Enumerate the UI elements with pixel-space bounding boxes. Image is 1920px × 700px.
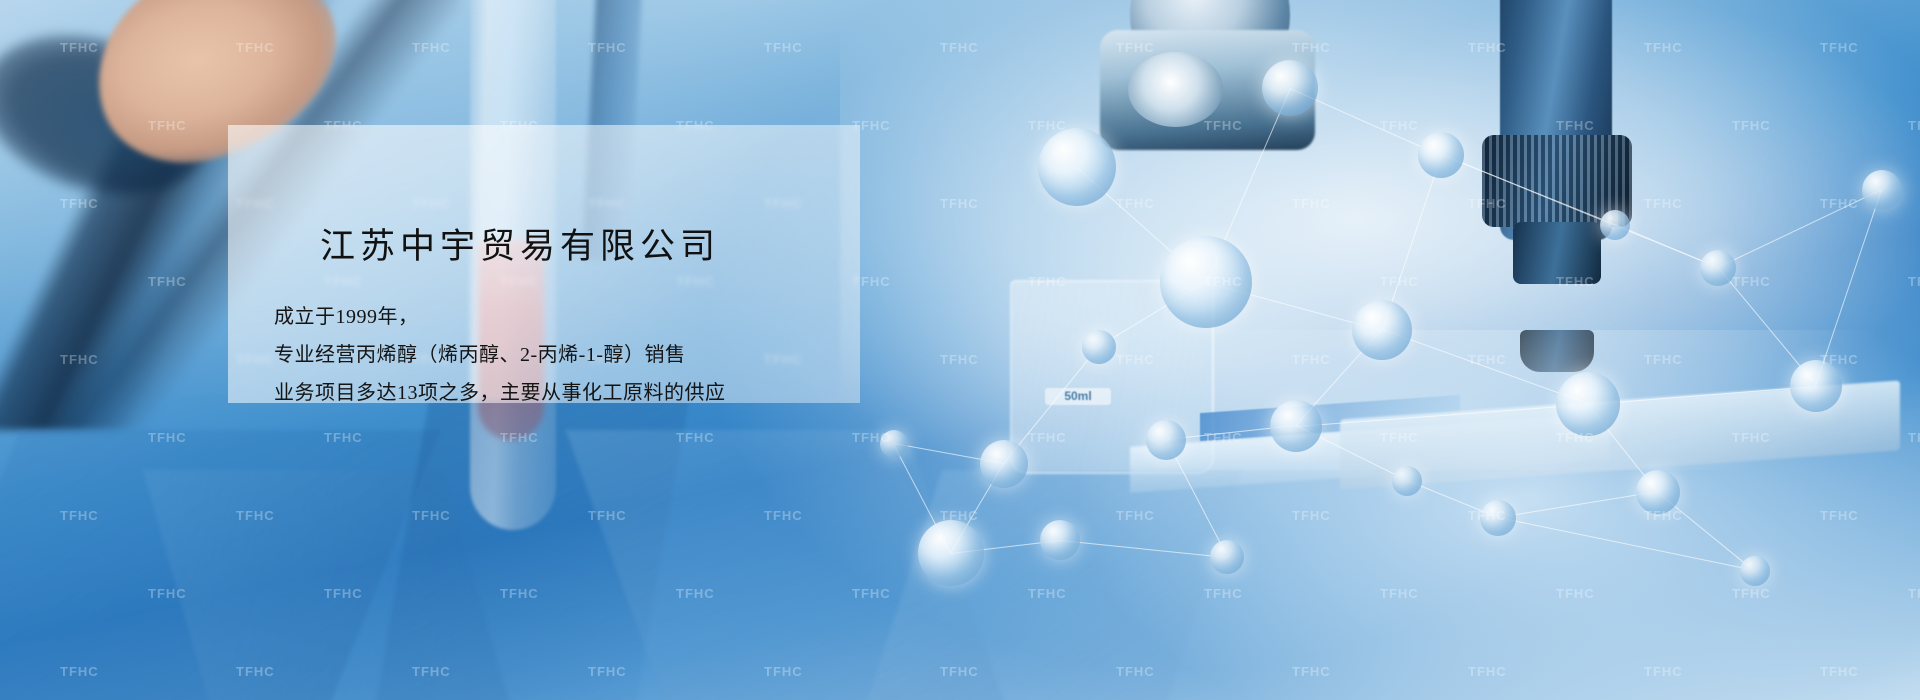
- molecule-node: [1262, 60, 1318, 116]
- watermark-text: TFHC: [1820, 508, 1859, 523]
- watermark-text: TFHC: [588, 664, 627, 679]
- watermark-text: TFHC: [1468, 196, 1507, 211]
- watermark-text: TFHC: [1644, 664, 1683, 679]
- watermark-text: TFHC: [1644, 508, 1683, 523]
- watermark-text: TFHC: [940, 664, 979, 679]
- watermark-text: TFHC: [148, 586, 187, 601]
- watermark-text: TFHC: [1820, 352, 1859, 367]
- watermark-text: TFHC: [1204, 274, 1243, 289]
- molecule-node: [1862, 170, 1902, 210]
- watermark-text: TFHC: [1732, 118, 1771, 133]
- molecule-bond: [1498, 517, 1755, 571]
- watermark-text: TFHC: [324, 586, 363, 601]
- watermark-text: TFHC: [1732, 274, 1771, 289]
- watermark-text: TFHC: [1468, 664, 1507, 679]
- watermark-text: TFHC: [1116, 196, 1155, 211]
- molecule-bond: [1296, 404, 1588, 427]
- molecule-node: [1790, 360, 1842, 412]
- molecule-node: [1270, 400, 1322, 452]
- watermark-text: TFHC: [852, 430, 891, 445]
- watermark-text: TFHC: [940, 508, 979, 523]
- company-name-title: 江苏中宇贸易有限公司: [320, 218, 720, 269]
- molecule-node: [980, 440, 1028, 488]
- watermark-text: TFHC: [1204, 586, 1243, 601]
- watermark-text: TFHC: [148, 430, 187, 445]
- company-intro-line-1: 成立于1999年，: [274, 298, 726, 336]
- molecule-node: [1556, 372, 1620, 436]
- watermark-text: TFHC: [940, 196, 979, 211]
- watermark-text: TFHC: [1468, 508, 1507, 523]
- molecule-node: [1418, 132, 1464, 178]
- watermark-text: TFHC: [60, 664, 99, 679]
- watermark-text: TFHC: [1644, 40, 1683, 55]
- company-intro-line-3: 业务项目多达13项之多，主要从事化工原料的供应: [274, 374, 726, 412]
- watermark-text: TFHC: [1028, 430, 1067, 445]
- watermark-text: TFHC: [940, 352, 979, 367]
- watermark-text: TFHC: [1380, 586, 1419, 601]
- molecule-node: [1082, 330, 1116, 364]
- company-intro-text: 成立于1999年，专业经营丙烯醇（烯丙醇、2-丙烯-1-醇）销售业务项目多达13…: [274, 298, 726, 412]
- watermark-text: TFHC: [1116, 352, 1155, 367]
- watermark-text: TFHC: [324, 430, 363, 445]
- molecule-node: [1146, 420, 1186, 460]
- watermark-text: TFHC: [412, 664, 451, 679]
- watermark-text: TFHC: [1556, 118, 1595, 133]
- watermark-text: TFHC: [1292, 352, 1331, 367]
- watermark-text: TFHC: [148, 118, 187, 133]
- watermark-text: TFHC: [1380, 430, 1419, 445]
- molecule-bond: [1060, 540, 1227, 558]
- watermark-text: TFHC: [412, 508, 451, 523]
- watermark-text: TFHC: [1820, 664, 1859, 679]
- molecule-node: [1392, 466, 1422, 496]
- company-intro-line-2: 专业经营丙烯醇（烯丙醇、2-丙烯-1-醇）销售: [274, 336, 726, 374]
- company-intro-panel: 江苏中宇贸易有限公司 成立于1999年，专业经营丙烯醇（烯丙醇、2-丙烯-1-醇…: [228, 125, 860, 403]
- molecule-node: [1038, 128, 1116, 206]
- watermark-text: TFHC: [1556, 586, 1595, 601]
- watermark-text: TFHC: [1732, 586, 1771, 601]
- watermark-text: TFHC: [1908, 430, 1920, 445]
- molecule-node: [918, 520, 984, 586]
- watermark-text: TFHC: [500, 586, 539, 601]
- watermark-text: TFHC: [764, 40, 803, 55]
- watermark-text: TFHC: [1204, 430, 1243, 445]
- watermark-text: TFHC: [1116, 508, 1155, 523]
- molecule-bond: [1498, 491, 1658, 518]
- watermark-text: TFHC: [60, 352, 99, 367]
- watermark-text: TFHC: [60, 196, 99, 211]
- watermark-text: TFHC: [676, 430, 715, 445]
- watermark-text: TFHC: [236, 664, 275, 679]
- watermark-text: TFHC: [1292, 196, 1331, 211]
- watermark-text: TFHC: [1116, 40, 1155, 55]
- watermark-text: TFHC: [148, 274, 187, 289]
- molecule-node: [1600, 210, 1630, 240]
- watermark-text: TFHC: [1028, 274, 1067, 289]
- watermark-text: TFHC: [412, 40, 451, 55]
- molecule-node: [1740, 556, 1770, 586]
- watermark-text: TFHC: [236, 40, 275, 55]
- watermark-text: TFHC: [1028, 586, 1067, 601]
- watermark-text: TFHC: [500, 430, 539, 445]
- watermark-text: TFHC: [236, 508, 275, 523]
- watermark-text: TFHC: [588, 508, 627, 523]
- molecule-node: [1040, 520, 1080, 560]
- watermark-text: TFHC: [1380, 118, 1419, 133]
- watermark-text: TFHC: [1644, 352, 1683, 367]
- molecule-node: [1210, 540, 1244, 574]
- watermark-text: TFHC: [1468, 352, 1507, 367]
- watermark-text: TFHC: [1732, 430, 1771, 445]
- watermark-text: TFHC: [1644, 196, 1683, 211]
- molecule-node: [1352, 300, 1412, 360]
- watermark-text: TFHC: [676, 586, 715, 601]
- watermark-text: TFHC: [1292, 508, 1331, 523]
- watermark-text: TFHC: [1116, 664, 1155, 679]
- watermark-text: TFHC: [588, 40, 627, 55]
- molecule-node: [1700, 250, 1736, 286]
- watermark-text: TFHC: [1908, 274, 1920, 289]
- watermark-text: TFHC: [1556, 430, 1595, 445]
- watermark-text: TFHC: [1292, 40, 1331, 55]
- watermark-text: TFHC: [1820, 196, 1859, 211]
- watermark-text: TFHC: [1908, 118, 1920, 133]
- watermark-text: TFHC: [1028, 118, 1067, 133]
- watermark-text: TFHC: [60, 508, 99, 523]
- watermark-text: TFHC: [1908, 586, 1920, 601]
- watermark-text: TFHC: [1292, 664, 1331, 679]
- watermark-text: TFHC: [1380, 274, 1419, 289]
- watermark-text: TFHC: [852, 586, 891, 601]
- watermark-text: TFHC: [1556, 274, 1595, 289]
- hero-banner: 50ml TFHCTFHCTFHCTFHCTFHCTFHCTFHCTFHCTFH…: [0, 0, 1920, 700]
- watermark-text: TFHC: [60, 40, 99, 55]
- watermark-text: TFHC: [764, 508, 803, 523]
- watermark-text: TFHC: [1204, 118, 1243, 133]
- watermark-text: TFHC: [1468, 40, 1507, 55]
- watermark-text: TFHC: [1820, 40, 1859, 55]
- watermark-text: TFHC: [764, 664, 803, 679]
- watermark-text: TFHC: [940, 40, 979, 55]
- molecule-bond: [1441, 154, 1615, 225]
- molecule-bond: [1588, 386, 1816, 405]
